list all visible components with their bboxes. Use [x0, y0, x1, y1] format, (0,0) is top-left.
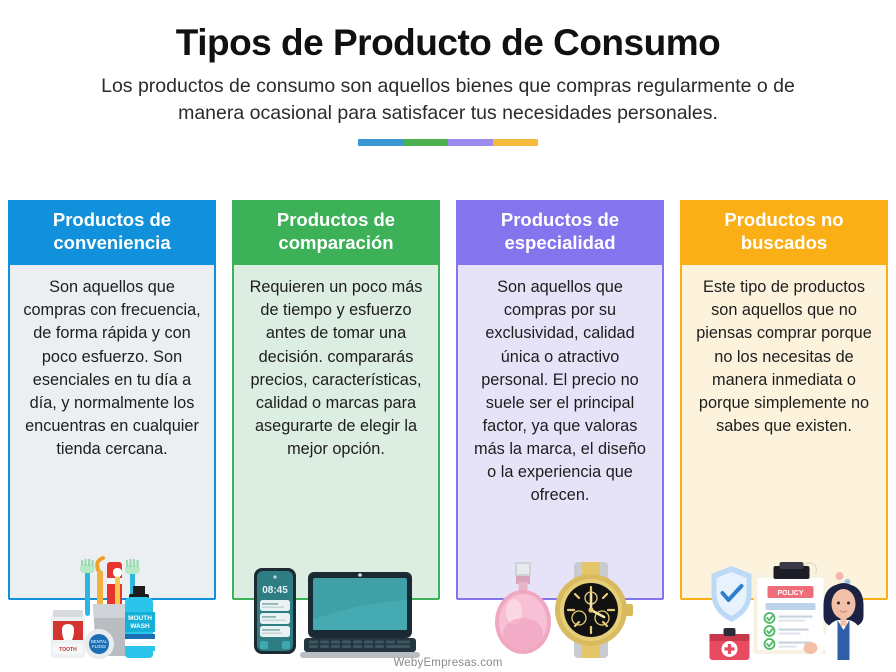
svg-text:TOOTH: TOOTH — [59, 647, 77, 653]
card-no-buscados: Productos no buscados Este tipo de produ… — [680, 200, 888, 600]
illustration-luxury-goods — [456, 556, 664, 660]
card-no-buscados-heading: Productos no buscados — [680, 200, 888, 265]
smartphone-and-laptop-icon: 08:45 — [246, 560, 426, 660]
infographic-canvas: Tipos de Producto de Consumo Los product… — [0, 0, 896, 672]
color-divider-bar — [358, 139, 538, 146]
card-no-buscados-body: Este tipo de productos son aquellos que … — [682, 265, 886, 598]
svg-text:POLICY: POLICY — [777, 590, 803, 597]
card-conveniencia-heading: Productos de conveniencia — [8, 200, 216, 265]
header-block: Tipos de Producto de Consumo Los product… — [0, 0, 896, 146]
perfume-bottle-and-luxury-watch-icon — [480, 560, 640, 660]
category-cards-row: Productos de conveniencia Son aquellos q… — [0, 200, 896, 600]
card-especialidad: Productos de especialidad Son aquellos q… — [456, 200, 664, 600]
dental-hygiene-products-icon: TOOTH DENTAL FLOSS MOUTH WASH — [37, 556, 187, 660]
card-comparacion-body: Requieren un poco más de tiempo y esfuer… — [234, 265, 438, 598]
card-comparacion-heading: Productos de comparación — [232, 200, 440, 265]
illustrations-row: TOOTH DENTAL FLOSS MOUTH WASH — [0, 556, 896, 660]
illustration-insurance-doctor: POLICY — [680, 556, 888, 660]
page-title: Tipos de Producto de Consumo — [0, 22, 896, 63]
divider-segment-blue — [358, 139, 403, 146]
svg-text:FLOSS: FLOSS — [92, 644, 106, 649]
illustration-dental-hygiene: TOOTH DENTAL FLOSS MOUTH WASH — [8, 556, 216, 660]
footer-credit: WebyEmpresas.com — [0, 657, 896, 669]
card-conveniencia-body: Son aquellos que compras con frecuencia,… — [10, 265, 214, 598]
divider-segment-green — [403, 139, 448, 146]
svg-text:08:45: 08:45 — [262, 585, 288, 596]
card-comparacion: Productos de comparación Requieren un po… — [232, 200, 440, 600]
insurance-doctor-clipboard-icon: POLICY — [692, 560, 877, 660]
illustration-devices: 08:45 — [232, 556, 440, 660]
page-subtitle: Los productos de consumo son aquellos bi… — [68, 73, 828, 127]
card-conveniencia: Productos de conveniencia Son aquellos q… — [8, 200, 216, 600]
card-especialidad-heading: Productos de especialidad — [456, 200, 664, 265]
divider-segment-yellow — [493, 139, 538, 146]
svg-text:WASH: WASH — [130, 623, 150, 630]
svg-text:MOUTH: MOUTH — [128, 615, 152, 622]
divider-segment-purple — [448, 139, 493, 146]
card-especialidad-body: Son aquellos que compras por su exclusiv… — [458, 265, 662, 598]
